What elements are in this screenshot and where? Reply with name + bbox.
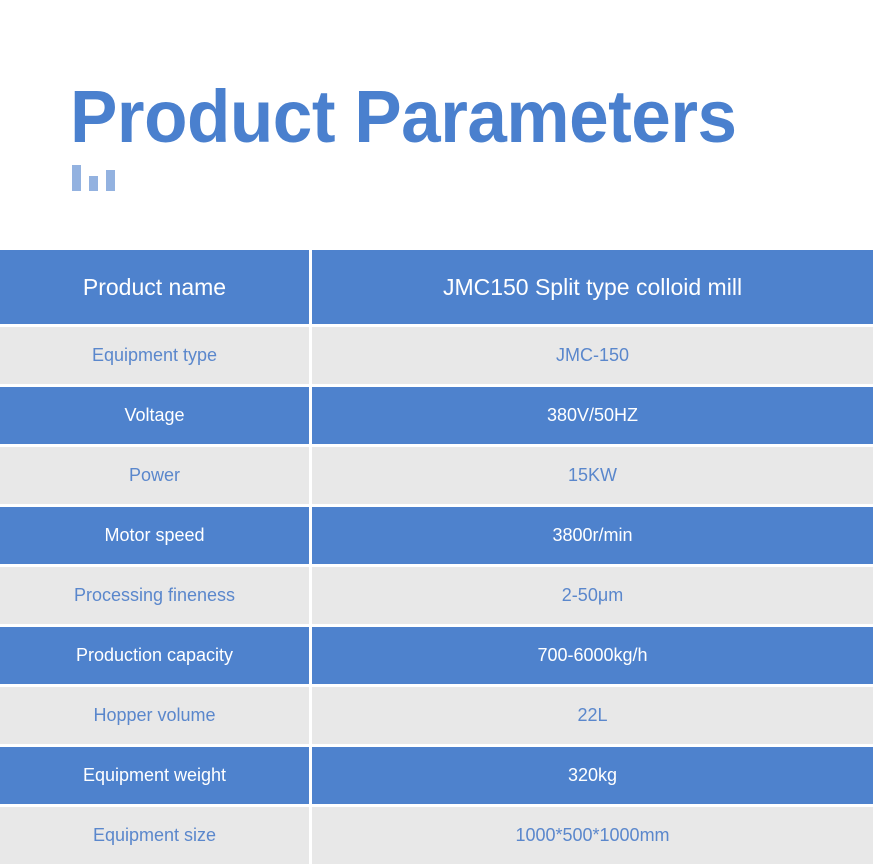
table-cell-label: Equipment weight bbox=[0, 747, 309, 804]
table-row: Voltage380V/50HZ bbox=[0, 387, 873, 444]
table-cell-label: Production capacity bbox=[0, 627, 309, 684]
table-row: Equipment weight320kg bbox=[0, 747, 873, 804]
page-title: Product Parameters bbox=[70, 78, 737, 156]
table-cell-value: 380V/50HZ bbox=[312, 387, 873, 444]
table-cell-value: 700-6000kg/h bbox=[312, 627, 873, 684]
table-cell-value: 1000*500*1000mm bbox=[312, 807, 873, 864]
table-row: Equipment size1000*500*1000mm bbox=[0, 807, 873, 864]
table-cell-label: Hopper volume bbox=[0, 687, 309, 744]
table-row: Equipment typeJMC-150 bbox=[0, 327, 873, 384]
product-parameters-table: Product name JMC150 Split type colloid m… bbox=[0, 250, 873, 867]
table-cell-label: Power bbox=[0, 447, 309, 504]
bar-chart-motif-icon bbox=[72, 163, 132, 191]
table-row: Power15KW bbox=[0, 447, 873, 504]
table-cell-value: 320kg bbox=[312, 747, 873, 804]
table-header-label: Product name bbox=[0, 250, 309, 324]
table-cell-label: Processing fineness bbox=[0, 567, 309, 624]
table-cell-label: Motor speed bbox=[0, 507, 309, 564]
table-cell-value: 2-50μm bbox=[312, 567, 873, 624]
motif-bar-tall bbox=[72, 165, 81, 191]
table-row: Hopper volume22L bbox=[0, 687, 873, 744]
table-cell-value: 22L bbox=[312, 687, 873, 744]
table-header-value: JMC150 Split type colloid mill bbox=[312, 250, 873, 324]
table-cell-value: JMC-150 bbox=[312, 327, 873, 384]
table-row: Production capacity700-6000kg/h bbox=[0, 627, 873, 684]
table-cell-label: Equipment size bbox=[0, 807, 309, 864]
table-cell-value: 15KW bbox=[312, 447, 873, 504]
motif-bar-short bbox=[89, 176, 98, 191]
table-cell-value: 3800r/min bbox=[312, 507, 873, 564]
table-cell-label: Equipment type bbox=[0, 327, 309, 384]
motif-bar-medium bbox=[106, 170, 115, 191]
table-cell-label: Voltage bbox=[0, 387, 309, 444]
table-header-row: Product name JMC150 Split type colloid m… bbox=[0, 250, 873, 324]
table-row: Processing fineness2-50μm bbox=[0, 567, 873, 624]
table-row: Motor speed3800r/min bbox=[0, 507, 873, 564]
